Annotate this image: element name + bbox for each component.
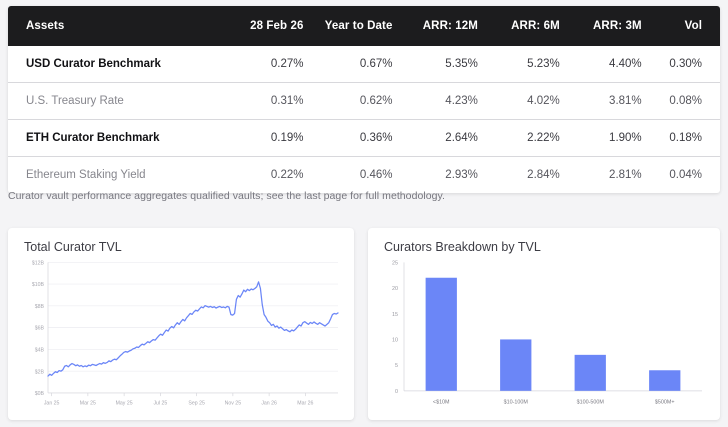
cell-ytd: 0.67% xyxy=(303,46,392,83)
x-axis-category-label: $10-100M xyxy=(504,399,529,405)
column-header-arr-3m: ARR: 3M xyxy=(560,6,642,46)
y-axis-tick-label: 5 xyxy=(395,363,398,369)
bar-chart-svg: 0510152025<$10M$10-100M$100-500M$500M+ xyxy=(378,256,710,414)
bar-1 xyxy=(426,278,457,391)
cell-arr-3m: 4.40% xyxy=(560,46,642,83)
bar-2 xyxy=(500,339,531,390)
cell-arr-3m: 3.81% xyxy=(560,83,642,120)
line-chart-svg: $0B$2B$4B$6B$8B$10B$12BJan 25Mar 25May 2… xyxy=(18,256,344,414)
y-axis-tick-label: 10 xyxy=(392,337,398,343)
y-axis-tick-label: $0B xyxy=(35,391,45,397)
x-axis-tick-label: Jul 25 xyxy=(153,400,167,406)
cell-arr-6m: 4.02% xyxy=(478,83,560,120)
performance-table: Assets 28 Feb 26 Year to Date ARR: 12M A… xyxy=(8,6,720,193)
cell-arr-12m: 4.23% xyxy=(392,83,477,120)
y-axis-tick-label: $12B xyxy=(32,260,45,266)
y-axis-tick-label: 25 xyxy=(392,260,398,266)
table-row: Ethereum Staking Yield 0.22% 0.46% 2.93%… xyxy=(8,157,720,194)
x-axis-category-label: <$10M xyxy=(433,399,450,405)
x-axis-category-label: $100-500M xyxy=(577,399,605,405)
cell-date: 0.22% xyxy=(222,157,304,194)
y-axis-tick-label: $10B xyxy=(32,282,45,288)
cell-ytd: 0.36% xyxy=(303,120,392,157)
cell-arr-6m: 5.23% xyxy=(478,46,560,83)
column-header-date: 28 Feb 26 xyxy=(222,6,304,46)
column-header-arr-12m: ARR: 12M xyxy=(392,6,477,46)
cell-asset-name: USD Curator Benchmark xyxy=(8,46,222,83)
cell-vol: 0.18% xyxy=(642,120,720,157)
bar-chart-body: 0510152025<$10M$10-100M$100-500M$500M+ xyxy=(378,256,710,414)
bar-3 xyxy=(575,355,606,391)
cell-asset-name: U.S. Treasury Rate xyxy=(8,83,222,120)
table-row: U.S. Treasury Rate 0.31% 0.62% 4.23% 4.0… xyxy=(8,83,720,120)
column-header-assets: Assets xyxy=(8,6,222,46)
x-axis-tick-label: Mar 26 xyxy=(297,400,313,406)
chart-title-bar: Curators Breakdown by TVL xyxy=(384,240,710,254)
cell-ytd: 0.46% xyxy=(303,157,392,194)
table-row: USD Curator Benchmark 0.27% 0.67% 5.35% … xyxy=(8,46,720,83)
y-axis-tick-label: $8B xyxy=(35,304,45,310)
table-header: Assets 28 Feb 26 Year to Date ARR: 12M A… xyxy=(8,6,720,46)
y-axis-tick-label: 0 xyxy=(395,389,398,395)
x-axis-category-label: $500M+ xyxy=(655,399,675,405)
cell-arr-6m: 2.84% xyxy=(478,157,560,194)
chart-title-line: Total Curator TVL xyxy=(24,240,344,254)
table-body: USD Curator Benchmark 0.27% 0.67% 5.35% … xyxy=(8,46,720,193)
x-axis-tick-label: Mar 25 xyxy=(80,400,96,406)
y-axis-tick-label: 20 xyxy=(392,286,398,292)
total-curator-tvl-card: Total Curator TVL $0B$2B$4B$6B$8B$10B$12… xyxy=(8,228,354,420)
cell-date: 0.27% xyxy=(222,46,304,83)
table-header-row: Assets 28 Feb 26 Year to Date ARR: 12M A… xyxy=(8,6,720,46)
y-axis-tick-label: $6B xyxy=(35,326,45,332)
y-axis-tick-label: $4B xyxy=(35,347,45,353)
cell-date: 0.19% xyxy=(222,120,304,157)
performance-table-card: Assets 28 Feb 26 Year to Date ARR: 12M A… xyxy=(8,6,720,193)
cell-arr-6m: 2.22% xyxy=(478,120,560,157)
cell-arr-3m: 1.90% xyxy=(560,120,642,157)
column-header-ytd: Year to Date xyxy=(303,6,392,46)
cell-date: 0.31% xyxy=(222,83,304,120)
report-page: Assets 28 Feb 26 Year to Date ARR: 12M A… xyxy=(0,0,728,427)
cell-vol: 0.08% xyxy=(642,83,720,120)
y-axis-tick-label: $2B xyxy=(35,369,45,375)
cell-arr-12m: 5.35% xyxy=(392,46,477,83)
cell-vol: 0.04% xyxy=(642,157,720,194)
line-chart-body: $0B$2B$4B$6B$8B$10B$12BJan 25Mar 25May 2… xyxy=(18,256,344,414)
cell-asset-name: ETH Curator Benchmark xyxy=(8,120,222,157)
cell-arr-12m: 2.64% xyxy=(392,120,477,157)
column-header-vol: Vol xyxy=(642,6,720,46)
cell-vol: 0.30% xyxy=(642,46,720,83)
x-axis-tick-label: Sep 25 xyxy=(188,400,204,406)
cell-arr-12m: 2.93% xyxy=(392,157,477,194)
column-header-arr-6m: ARR: 6M xyxy=(478,6,560,46)
cell-arr-3m: 2.81% xyxy=(560,157,642,194)
x-axis-tick-label: May 25 xyxy=(116,400,133,406)
x-axis-tick-label: Jan 26 xyxy=(261,400,277,406)
cell-ytd: 0.62% xyxy=(303,83,392,120)
table-row: ETH Curator Benchmark 0.19% 0.36% 2.64% … xyxy=(8,120,720,157)
methodology-caption: Curator vault performance aggregates qua… xyxy=(8,190,708,202)
bar-4 xyxy=(649,370,680,391)
tvl-line-series xyxy=(48,282,338,376)
x-axis-tick-label: Nov 25 xyxy=(225,400,241,406)
y-axis-tick-label: 15 xyxy=(392,312,398,318)
cell-asset-name: Ethereum Staking Yield xyxy=(8,157,222,194)
curators-breakdown-card: Curators Breakdown by TVL 0510152025<$10… xyxy=(368,228,720,420)
x-axis-tick-label: Jan 25 xyxy=(44,400,60,406)
